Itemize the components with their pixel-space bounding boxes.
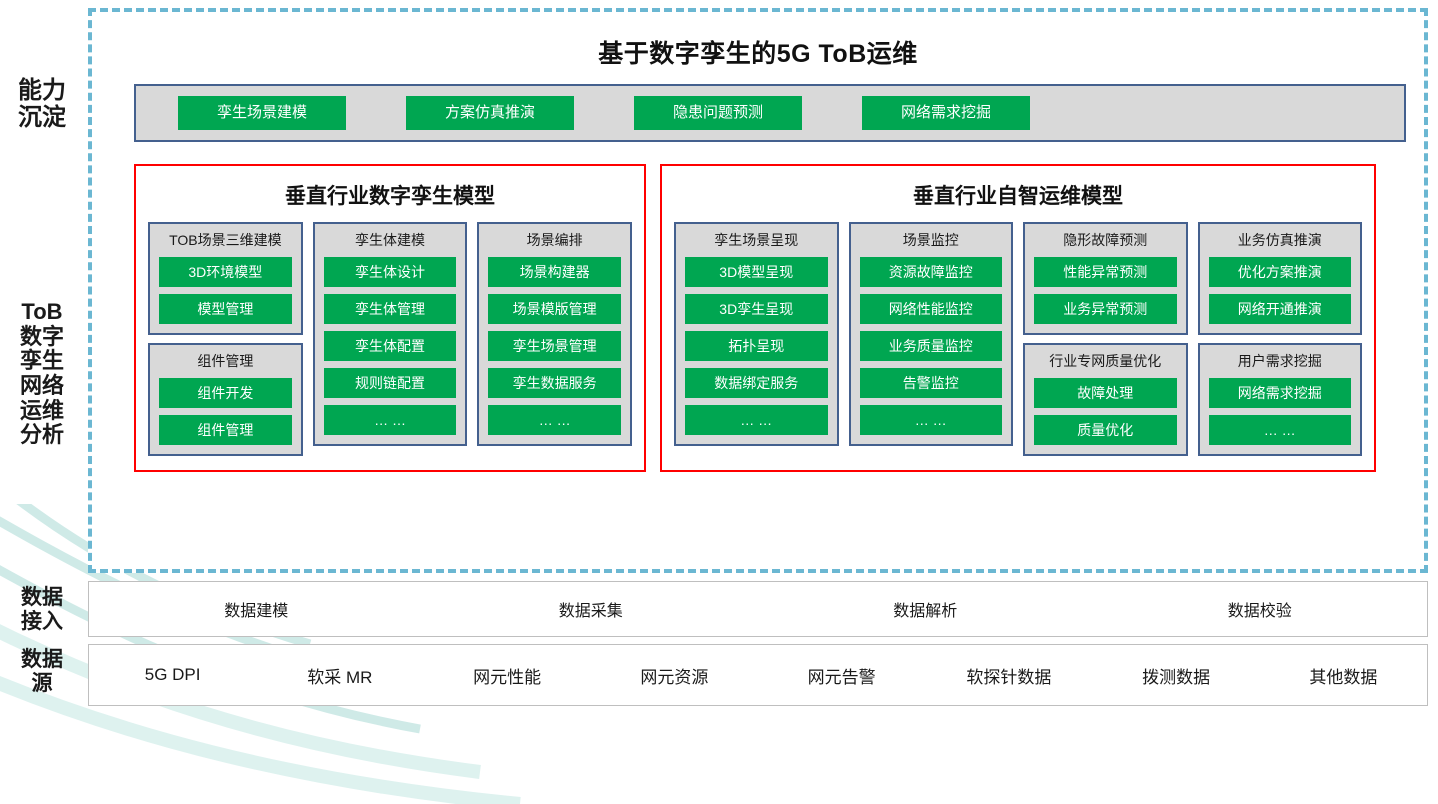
capability-item[interactable]: 3D环境模型	[159, 257, 292, 287]
stage-label-capability-line-1: 沉淀	[0, 105, 84, 132]
data-source-cell-0: 5G DPI	[89, 665, 256, 685]
stage-label-capability: 能力沉淀	[0, 78, 84, 132]
capability-chip-1[interactable]: 方案仿真推演	[406, 96, 574, 130]
column-twin-1: 孪生体建模孪生体设计孪生体管理孪生体配置规则链配置… …	[313, 222, 468, 446]
capability-item[interactable]: 场景模版管理	[488, 294, 621, 324]
capability-item[interactable]: 孪生数据服务	[488, 368, 621, 398]
data-access-cell-2: 数据解析	[758, 597, 1093, 621]
capability-item[interactable]: 规则链配置	[324, 368, 457, 398]
capability-item[interactable]: … …	[324, 405, 457, 435]
panel-twin: 垂直行业数字孪生模型TOB场景三维建模3D环境模型模型管理组件管理组件开发组件管…	[134, 164, 646, 472]
group-title: 场景编排	[488, 230, 621, 250]
group-box: 组件管理组件开发组件管理	[148, 343, 303, 456]
data-source-cell-2: 网元性能	[424, 663, 591, 688]
group-title: 隐形故障预测	[1034, 230, 1177, 250]
capability-item[interactable]: 网络开通推演	[1209, 294, 1352, 324]
group-title: 孪生场景呈现	[685, 230, 828, 250]
capability-item[interactable]: 场景构建器	[488, 257, 621, 287]
page-title: 基于数字孪生的5G ToB运维	[92, 34, 1424, 70]
group-box: 用户需求挖掘网络需求挖掘… …	[1198, 343, 1363, 456]
group-box: 孪生体建模孪生体设计孪生体管理孪生体配置规则链配置… …	[313, 222, 468, 446]
capability-item[interactable]: 3D模型呈现	[685, 257, 828, 287]
capability-item[interactable]: 故障处理	[1034, 378, 1177, 408]
group-box: 场景监控资源故障监控网络性能监控业务质量监控告警监控… …	[849, 222, 1014, 446]
capability-item[interactable]: 拓扑呈现	[685, 331, 828, 361]
group-title: 用户需求挖掘	[1209, 351, 1352, 371]
group-title: 组件管理	[159, 351, 292, 371]
architecture-container: 基于数字孪生的5G ToB运维 孪生场景建模方案仿真推演隐患问题预测网络需求挖掘…	[88, 8, 1428, 573]
capability-item[interactable]: … …	[1209, 415, 1352, 445]
capability-item[interactable]: … …	[860, 405, 1003, 435]
group-title: TOB场景三维建模	[159, 230, 292, 250]
data-source-cell-4: 网元告警	[758, 663, 925, 688]
capability-strip: 孪生场景建模方案仿真推演隐患问题预测网络需求挖掘	[134, 84, 1406, 142]
data-access-cell-3: 数据校验	[1093, 597, 1428, 621]
capability-item[interactable]: 孪生体管理	[324, 294, 457, 324]
group-box: 场景编排场景构建器场景模版管理孪生场景管理孪生数据服务… …	[477, 222, 632, 446]
stage-label-data-source: 数据源	[0, 648, 84, 695]
data-access-cell-0: 数据建模	[89, 597, 424, 621]
capability-item[interactable]: 资源故障监控	[860, 257, 1003, 287]
column-twin-2: 场景编排场景构建器场景模版管理孪生场景管理孪生数据服务… …	[477, 222, 632, 446]
data-source-cell-7: 其他数据	[1260, 663, 1427, 688]
model-panels: 垂直行业数字孪生模型TOB场景三维建模3D环境模型模型管理组件管理组件开发组件管…	[134, 164, 1406, 472]
capability-item[interactable]: 孪生体设计	[324, 257, 457, 287]
column-ops-2: 隐形故障预测性能异常预测业务异常预测行业专网质量优化故障处理质量优化	[1023, 222, 1188, 456]
stage-label-tob-analysis-line-5: 分析	[0, 423, 84, 448]
column-ops-3: 业务仿真推演优化方案推演网络开通推演用户需求挖掘网络需求挖掘… …	[1198, 222, 1363, 456]
capability-item[interactable]: 性能异常预测	[1034, 257, 1177, 287]
stage-label-tob-analysis: ToB数字孪生网络运维分析	[0, 300, 84, 448]
group-title: 行业专网质量优化	[1034, 351, 1177, 371]
capability-item[interactable]: 告警监控	[860, 368, 1003, 398]
capability-item[interactable]: 网络需求挖掘	[1209, 378, 1352, 408]
column-ops-0: 孪生场景呈现3D模型呈现3D孪生呈现拓扑呈现数据绑定服务… …	[674, 222, 839, 446]
capability-item[interactable]: 数据绑定服务	[685, 368, 828, 398]
group-box: 行业专网质量优化故障处理质量优化	[1023, 343, 1188, 456]
panel-title-twin: 垂直行业数字孪生模型	[148, 180, 632, 210]
capability-chip-0[interactable]: 孪生场景建模	[178, 96, 346, 130]
panel-columns-twin: TOB场景三维建模3D环境模型模型管理组件管理组件开发组件管理孪生体建模孪生体设…	[148, 222, 632, 456]
capability-item[interactable]: 组件管理	[159, 415, 292, 445]
panel-columns-ops: 孪生场景呈现3D模型呈现3D孪生呈现拓扑呈现数据绑定服务… …场景监控资源故障监…	[674, 222, 1362, 456]
data-access-row: 数据建模数据采集数据解析数据校验	[88, 581, 1428, 637]
group-box: 孪生场景呈现3D模型呈现3D孪生呈现拓扑呈现数据绑定服务… …	[674, 222, 839, 446]
data-source-cell-5: 软探针数据	[925, 663, 1092, 688]
capability-item[interactable]: 业务异常预测	[1034, 294, 1177, 324]
stage-label-tob-analysis-line-1: 数字	[0, 325, 84, 350]
stage-label-data-source-line-1: 源	[0, 672, 84, 696]
stage-label-tob-analysis-line-3: 网络	[0, 374, 84, 399]
stage-label-data-access: 数据接入	[0, 586, 84, 633]
capability-item[interactable]: 优化方案推演	[1209, 257, 1352, 287]
data-source-cell-1: 软采 MR	[256, 663, 423, 688]
stage-label-capability-line-0: 能力	[0, 78, 84, 105]
capability-item[interactable]: … …	[685, 405, 828, 435]
group-title: 孪生体建模	[324, 230, 457, 250]
capability-item[interactable]: 模型管理	[159, 294, 292, 324]
data-source-cell-3: 网元资源	[591, 663, 758, 688]
capability-item[interactable]: 孪生体配置	[324, 331, 457, 361]
capability-item[interactable]: 业务质量监控	[860, 331, 1003, 361]
stage-label-data-access-line-0: 数据	[0, 586, 84, 610]
capability-item[interactable]: 网络性能监控	[860, 294, 1003, 324]
capability-chip-3[interactable]: 网络需求挖掘	[862, 96, 1030, 130]
data-access-cell-1: 数据采集	[424, 597, 759, 621]
capability-chip-2[interactable]: 隐患问题预测	[634, 96, 802, 130]
group-box: TOB场景三维建模3D环境模型模型管理	[148, 222, 303, 335]
capability-item[interactable]: 3D孪生呈现	[685, 294, 828, 324]
capability-item[interactable]: … …	[488, 405, 621, 435]
group-title: 业务仿真推演	[1209, 230, 1352, 250]
group-title: 场景监控	[860, 230, 1003, 250]
stage-label-data-source-line-0: 数据	[0, 648, 84, 672]
column-twin-0: TOB场景三维建模3D环境模型模型管理组件管理组件开发组件管理	[148, 222, 303, 456]
stage-label-tob-analysis-line-4: 运维	[0, 399, 84, 424]
panel-title-ops: 垂直行业自智运维模型	[674, 180, 1362, 210]
capability-item[interactable]: 组件开发	[159, 378, 292, 408]
stage-label-tob-analysis-line-0: ToB	[0, 300, 84, 325]
stage-label-data-access-line-1: 接入	[0, 610, 84, 634]
data-source-row: 5G DPI软采 MR网元性能网元资源网元告警软探针数据拨测数据其他数据	[88, 644, 1428, 706]
panel-ops: 垂直行业自智运维模型孪生场景呈现3D模型呈现3D孪生呈现拓扑呈现数据绑定服务… …	[660, 164, 1376, 472]
stage-label-tob-analysis-line-2: 孪生	[0, 349, 84, 374]
capability-item[interactable]: 质量优化	[1034, 415, 1177, 445]
group-box: 业务仿真推演优化方案推演网络开通推演	[1198, 222, 1363, 335]
group-box: 隐形故障预测性能异常预测业务异常预测	[1023, 222, 1188, 335]
column-ops-1: 场景监控资源故障监控网络性能监控业务质量监控告警监控… …	[849, 222, 1014, 446]
capability-item[interactable]: 孪生场景管理	[488, 331, 621, 361]
data-source-cell-6: 拨测数据	[1093, 663, 1260, 688]
